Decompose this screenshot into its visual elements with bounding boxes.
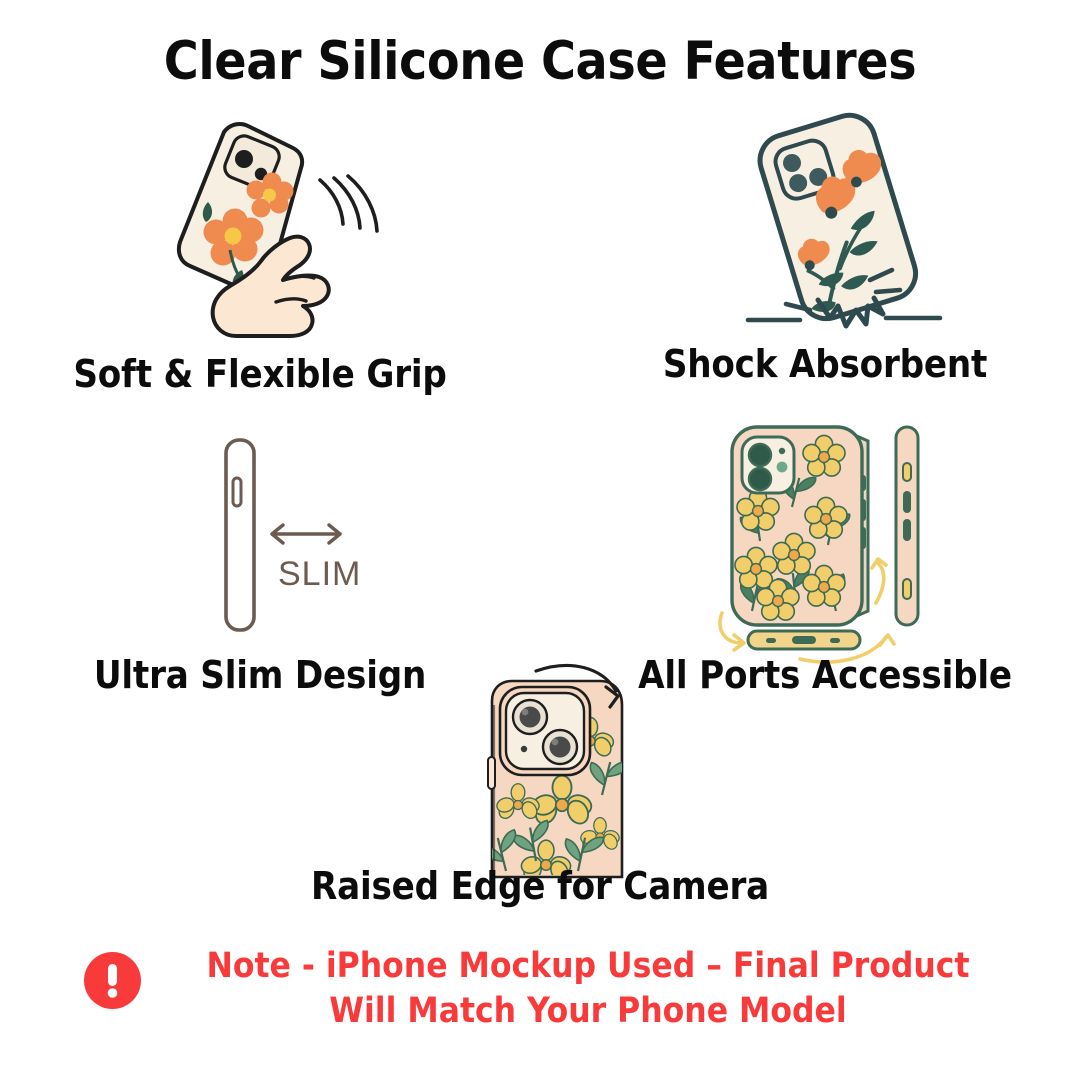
phone-side-profile-arrow-icon: SLIM	[190, 430, 400, 640]
exclamation-circle-icon	[84, 952, 141, 1009]
feature-label-ultra-slim-design: Ultra Slim Design	[10, 655, 510, 697]
page-title: Clear Silicone Case Features	[0, 34, 1080, 90]
note-banner: Note - iPhone Mockup Used – Final Produc…	[0, 944, 1080, 1034]
feature-label-soft-flexible-grip: Soft & Flexible Grip	[10, 354, 510, 396]
feature-infographic-page: Clear Silicone Case Features	[0, 0, 1080, 1080]
feature-label-raised-edge-for-camera: Raised Edge for Camera	[190, 866, 890, 908]
phone-impact-burst-icon	[700, 110, 990, 345]
note-text: Note - iPhone Mockup Used – Final Produc…	[168, 944, 1008, 1034]
hand-holding-flexing-phone-case-icon	[120, 118, 420, 348]
note-line-2: Match Your Phone Model	[407, 991, 846, 1031]
feature-label-shock-absorbent: Shock Absorbent	[575, 344, 1075, 386]
phone-raised-camera-bump-icon	[450, 665, 700, 865]
slim-annotation-text: SLIM	[278, 555, 361, 593]
phone-back-side-bottom-cutouts-icon	[700, 415, 960, 660]
